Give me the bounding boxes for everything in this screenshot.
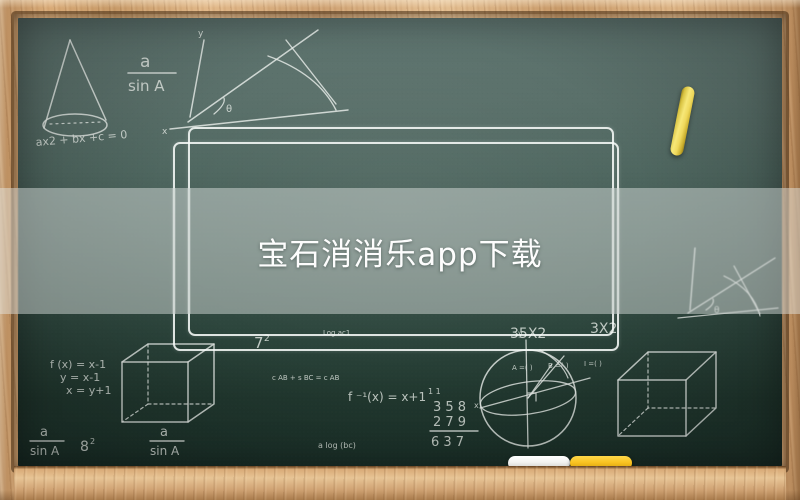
page-title: 宝石消消乐app下载	[0, 188, 800, 314]
chalk-tray-grain	[14, 466, 786, 500]
chalk-tray	[14, 466, 786, 500]
screenshot-stage: a sin A ax2 + bx +c = 0 y x θ	[0, 0, 800, 500]
